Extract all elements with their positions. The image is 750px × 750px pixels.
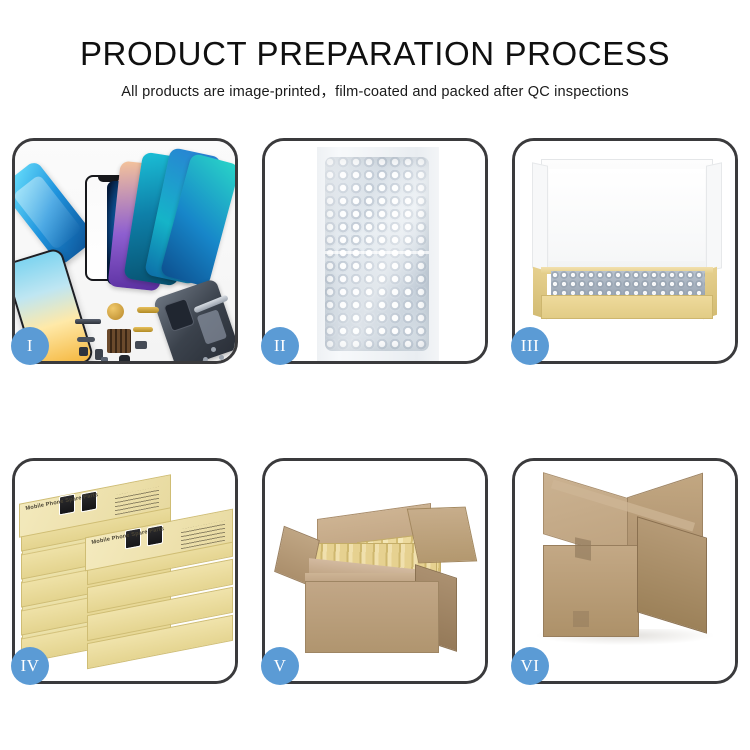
carton-flap-right	[407, 507, 478, 564]
sim-tray-icon	[101, 357, 108, 361]
step-badge-1: I	[11, 327, 49, 365]
screw-icon	[219, 355, 224, 360]
screw-icon	[203, 357, 208, 361]
step-panel-6[interactable]: VI	[512, 458, 738, 684]
flex-strip-part-icon	[75, 319, 101, 324]
step-panel-2[interactable]: II	[262, 138, 488, 364]
connector-part-icon	[79, 347, 88, 356]
step-badge-4: IV	[11, 647, 49, 685]
step-image-sealed-carton	[515, 461, 735, 681]
step-panel-4[interactable]: Mobile Phone Spare Parts Mobile Phone Sp…	[12, 458, 238, 684]
step-panel-1[interactable]: I	[12, 138, 238, 364]
phone-back-housing-icon	[153, 278, 235, 361]
step-badge-3: III	[511, 327, 549, 365]
flex-cable-c-icon	[77, 337, 95, 342]
process-steps-grid: I II III	[12, 138, 738, 684]
page-subtitle: All products are image-printed，film-coat…	[0, 83, 750, 101]
box-front-panel	[541, 295, 713, 319]
carton-front-panel	[305, 581, 439, 653]
bubble-wrapped-product-icon	[551, 271, 705, 297]
page-title: PRODUCT PREPARATION PROCESS	[0, 34, 750, 74]
step-image-open-carton	[265, 461, 485, 681]
carton-flap-tab	[573, 611, 589, 627]
carton-flap-tab	[575, 537, 591, 560]
step-image-phone-parts	[15, 141, 235, 361]
retail-box-stack-icon: Mobile Phone Spare Parts Mobile Phone Sp…	[15, 461, 235, 681]
step-image-bubble-wrap	[265, 141, 485, 361]
button-part-icon	[135, 341, 147, 349]
flex-cable-a-icon	[137, 307, 159, 313]
product-preparation-infographic: PRODUCT PREPARATION PROCESS All products…	[0, 0, 750, 750]
step-panel-3[interactable]: III	[512, 138, 738, 364]
chip-array-part-icon	[107, 329, 131, 353]
step-image-inner-box	[515, 141, 735, 361]
bubble-wrap-icon	[325, 157, 429, 351]
header: PRODUCT PREPARATION PROCESS All products…	[0, 34, 750, 101]
step-badge-5: V	[261, 647, 299, 685]
step-image-box-stack: Mobile Phone Spare Parts Mobile Phone Sp…	[15, 461, 235, 681]
screw-icon	[211, 347, 216, 352]
step-badge-2: II	[261, 327, 299, 365]
carton-front-panel	[543, 545, 639, 637]
step-panel-5[interactable]: V	[262, 458, 488, 684]
vibration-motor-part-icon	[107, 303, 124, 320]
wrap-seam	[325, 251, 429, 254]
step-badge-6: VI	[511, 647, 549, 685]
camera-module-icon	[119, 355, 130, 361]
carton-side-panel	[637, 516, 707, 633]
foam-insert-icon	[549, 169, 705, 261]
flex-cable-b-icon	[133, 327, 153, 332]
